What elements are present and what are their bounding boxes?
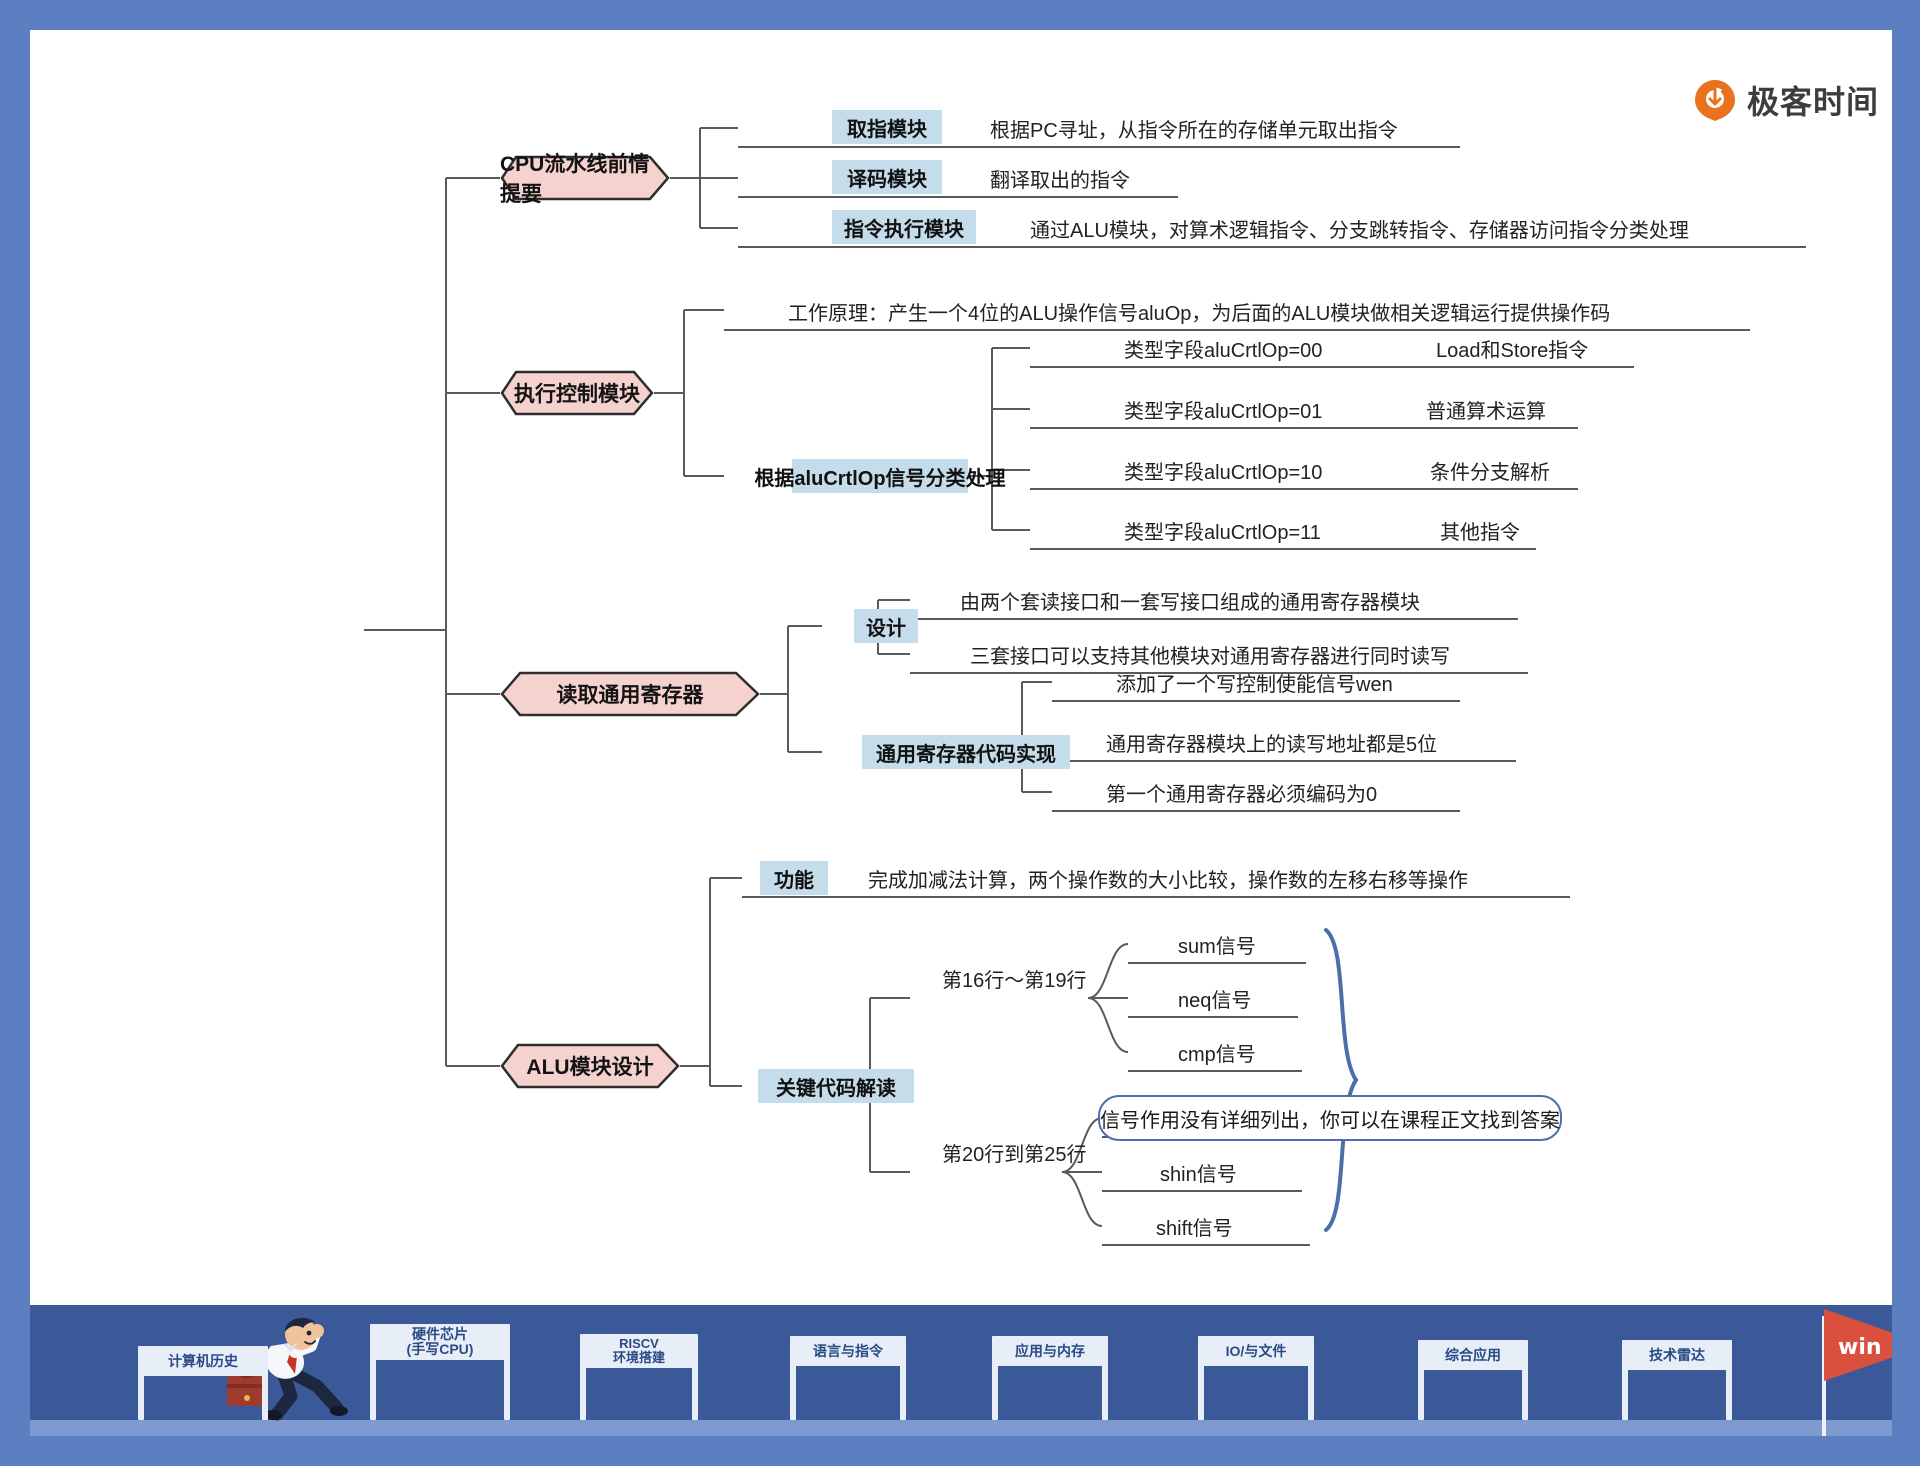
hurdle-label: 综合应用 [1418,1340,1528,1370]
hurdle-leg-left [580,1334,586,1420]
branch-label: 读取通用寄存器 [500,671,760,717]
tag-label: 设计 [866,612,906,641]
mindmap-canvas: 极客时间 [30,30,1892,1305]
leaf-alucrtlop-00-result: Load和Store指令 [1436,338,1588,367]
hurdle-leg-right [900,1336,906,1420]
tag-register-code-impl[interactable]: 通用寄存器代码实现 [862,735,1070,769]
tag-label: 根据aluCrtlOp信号分类处理 [754,462,1005,491]
hurdle-5: IO/与文件 [1198,1336,1314,1420]
leaf-code-range-1: 第16行～第19行 [942,968,1087,997]
hurdle-7: 技术雷达 [1622,1340,1732,1420]
callout-text: 信号作用没有详细列出，你可以在课程正文找到答案 [1100,1104,1560,1133]
tag-label: 指令执行模块 [844,213,964,242]
hurdle-label: 计算机历史 [138,1346,268,1376]
hurdle-label: 语言与指令 [790,1336,906,1366]
hurdle-leg-left [992,1336,998,1420]
footer-banner: 计算机历史 硬件芯片 (手写CPU) RISCV 环境搭建 语言与指令 应用与内… [30,1305,1892,1436]
hurdle-leg-left [370,1324,376,1420]
hurdle-leg-left [1622,1340,1628,1420]
hurdle-leg-left [138,1346,144,1420]
leaf-working-principle: 工作原理：产生一个4位的ALU操作信号aluOp，为后面的ALU模块做相关逻辑运… [788,301,1610,330]
hurdle-label: RISCV 环境搭建 [580,1334,698,1368]
leaf-signal-cmp: cmp信号 [1178,1042,1256,1071]
leaf-alucrtlop-11-result: 其他指令 [1440,520,1520,549]
hurdle-leg-right [262,1346,268,1420]
leaf-alucrtlop-10-cond: 类型字段aluCrtlOp=10 [1124,460,1322,489]
leaf-alucrtlop-01-cond: 类型字段aluCrtlOp=01 [1124,399,1322,428]
hurdle-label: IO/与文件 [1198,1336,1314,1366]
tag-label: 译码模块 [847,163,927,192]
hurdle-label: 硬件芯片 (手写CPU) [370,1324,510,1360]
branch-node-cpu-pipeline-recap[interactable]: CPU流水线前情提要 [500,155,670,201]
leaf-signal-neq: neq信号 [1178,988,1251,1017]
tag-decode-module[interactable]: 译码模块 [832,160,942,194]
tag-label: 功能 [774,864,814,893]
hurdle-6: 综合应用 [1418,1340,1528,1420]
tag-key-code-analysis[interactable]: 关键代码解读 [758,1069,914,1103]
leaf-signal-sum: sum信号 [1178,934,1256,963]
tag-design[interactable]: 设计 [854,609,918,643]
leaf-register-impl-item-3: 第一个通用寄存器必须编码为0 [1106,782,1377,811]
branch-node-alu-design[interactable]: ALU模块设计 [500,1043,680,1089]
branch-label: CPU流水线前情提要 [500,155,670,201]
geektime-logo-icon [1693,78,1737,122]
hurdle-label: 技术雷达 [1622,1340,1732,1370]
tag-alu-function[interactable]: 功能 [760,861,828,895]
leaf-alucrtlop-10-result: 条件分支解析 [1430,460,1550,489]
leaf-alucrtlop-01-result: 普通算术运算 [1426,399,1546,428]
hurdle-1: 硬件芯片 (手写CPU) [370,1324,510,1420]
leaf-decode-module-desc: 翻译取出的指令 [990,168,1130,197]
leaf-design-item-1: 由两个套读接口和一套写接口组成的通用寄存器模块 [960,590,1420,619]
branch-label: ALU模块设计 [500,1043,680,1089]
page-frame: 极客时间 [0,0,1920,1466]
leaf-code-range-2: 第20行到第25行 [942,1142,1087,1171]
leaf-register-impl-item-1: 添加了一个写控制使能信号wen [1116,672,1393,701]
callout-note: 信号作用没有详细列出，你可以在课程正文找到答案 [1098,1095,1562,1141]
leaf-design-item-2: 三套接口可以支持其他模块对通用寄存器进行同时读写 [970,644,1450,673]
hurdle-label: 应用与内存 [992,1336,1108,1366]
geektime-logo: 极客时间 [1693,70,1892,130]
leaf-execute-module-desc: 通过ALU模块，对算术逻辑指令、分支跳转指令、存储器访问指令分类处理 [1030,218,1689,247]
hurdle-leg-right [1522,1340,1528,1420]
hurdle-leg-right [1726,1340,1732,1420]
leaf-alucrtlop-00-cond: 类型字段aluCrtlOp=00 [1124,338,1322,367]
hurdle-4: 应用与内存 [992,1336,1108,1420]
hurdle-leg-right [1308,1336,1314,1420]
tag-fetch-module[interactable]: 取指模块 [832,110,942,144]
leaf-register-impl-item-2: 通用寄存器模块上的读写地址都是5位 [1106,732,1437,761]
brand-name: 极客时间 [1747,77,1879,123]
leaf-fetch-module-desc: 根据PC寻址，从指令所在的存储单元取出指令 [990,118,1398,147]
branch-node-execution-control[interactable]: 执行控制模块 [500,370,654,416]
hurdle-leg-left [1418,1340,1424,1420]
hurdle-leg-right [1102,1336,1108,1420]
leaf-signal-shin: shin信号 [1160,1162,1237,1191]
tag-alucrtlop-classification[interactable]: 根据aluCrtlOp信号分类处理 [792,459,968,493]
hurdle-leg-right [504,1324,510,1420]
leaf-alu-function-desc: 完成加减法计算，两个操作数的大小比较，操作数的左移右移等操作 [868,868,1468,897]
branch-node-read-registers[interactable]: 读取通用寄存器 [500,671,760,717]
finish-flag-label: win [1838,1335,1882,1360]
leaf-signal-shift: shift信号 [1156,1216,1233,1245]
hurdle-3: 语言与指令 [790,1336,906,1420]
tag-label: 取指模块 [847,113,927,142]
hurdle-2: RISCV 环境搭建 [580,1334,698,1420]
leaf-alucrtlop-11-cond: 类型字段aluCrtlOp=11 [1124,520,1321,549]
tag-execute-module[interactable]: 指令执行模块 [832,210,976,244]
tag-label: 关键代码解读 [776,1072,896,1101]
hurdle-leg-left [790,1336,796,1420]
hurdle-leg-left [1198,1336,1204,1420]
tag-label: 通用寄存器代码实现 [876,738,1056,767]
branch-label: 执行控制模块 [500,370,654,416]
hurdle-leg-right [692,1334,698,1420]
hurdle-0: 计算机历史 [138,1346,268,1420]
